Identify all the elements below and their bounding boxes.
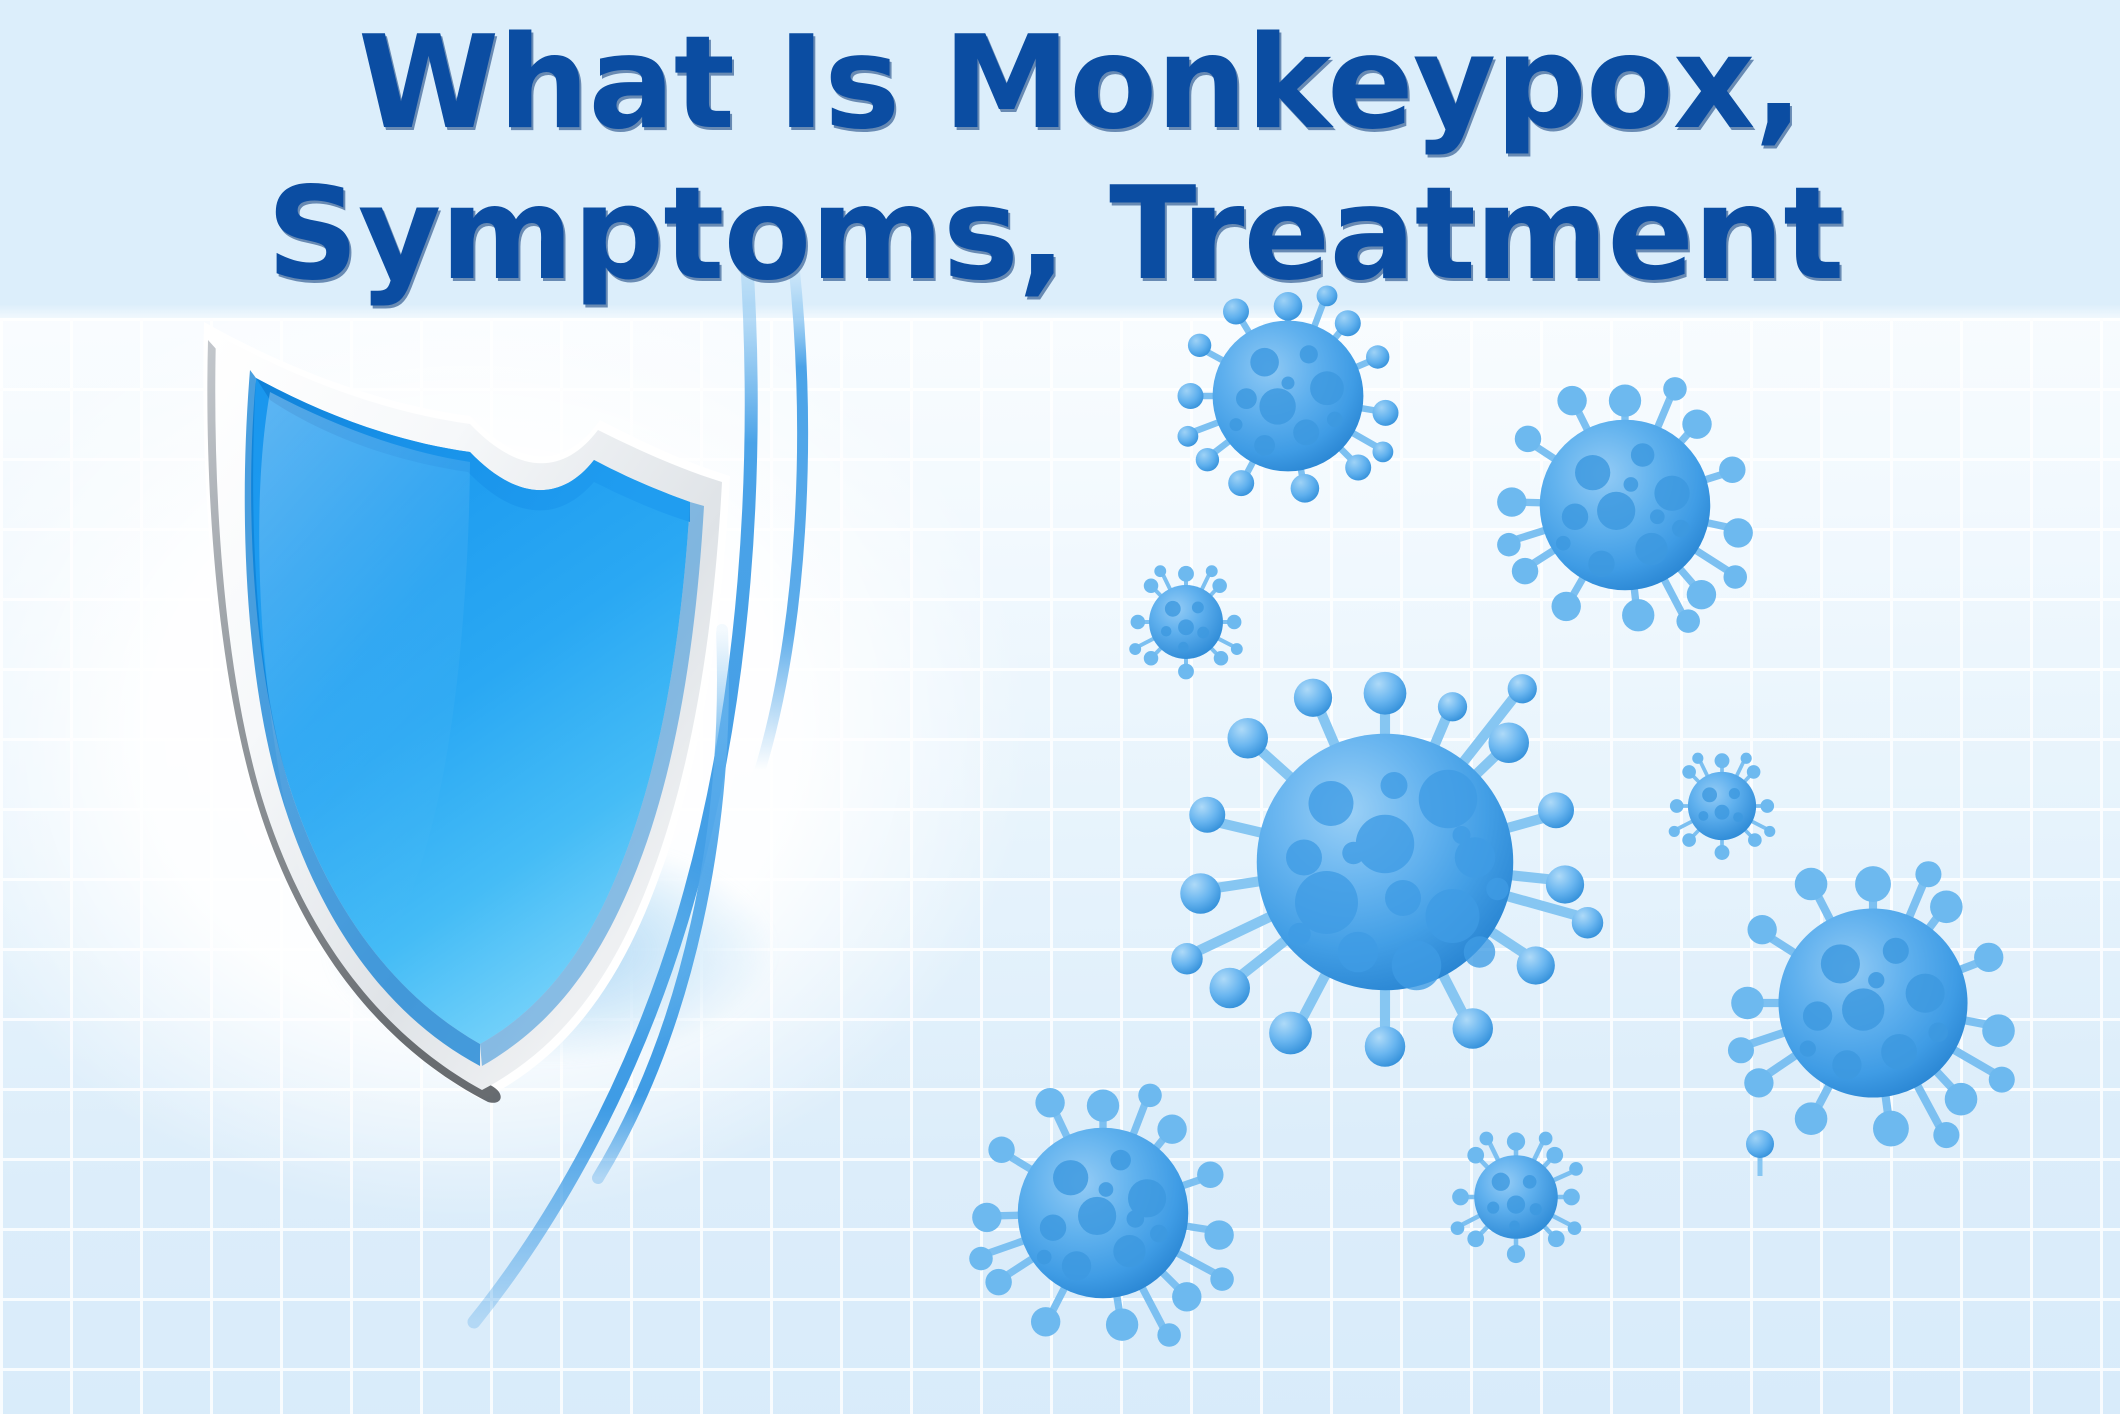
virus-particle bbox=[1160, 637, 1610, 1087]
page-title-line-1: What Is Monkeypox, bbox=[358, 8, 1802, 159]
virus-particle bbox=[956, 1066, 1250, 1360]
virus-spike-knobs bbox=[1746, 1130, 1774, 1158]
page-title: What Is Monkeypox, Symptoms, Treatment bbox=[0, 0, 2120, 330]
banner-canvas: What Is Monkeypox, Symptoms, Treatment bbox=[0, 0, 2120, 1414]
page-title-line-2: Symptoms, Treatment bbox=[267, 159, 1844, 310]
virus-particle bbox=[1478, 358, 1772, 652]
virus-particle bbox=[1440, 1121, 1592, 1273]
virus-particle bbox=[1710, 840, 2036, 1166]
virus-particle bbox=[1738, 1128, 1784, 1180]
protection-shield bbox=[170, 300, 890, 1130]
